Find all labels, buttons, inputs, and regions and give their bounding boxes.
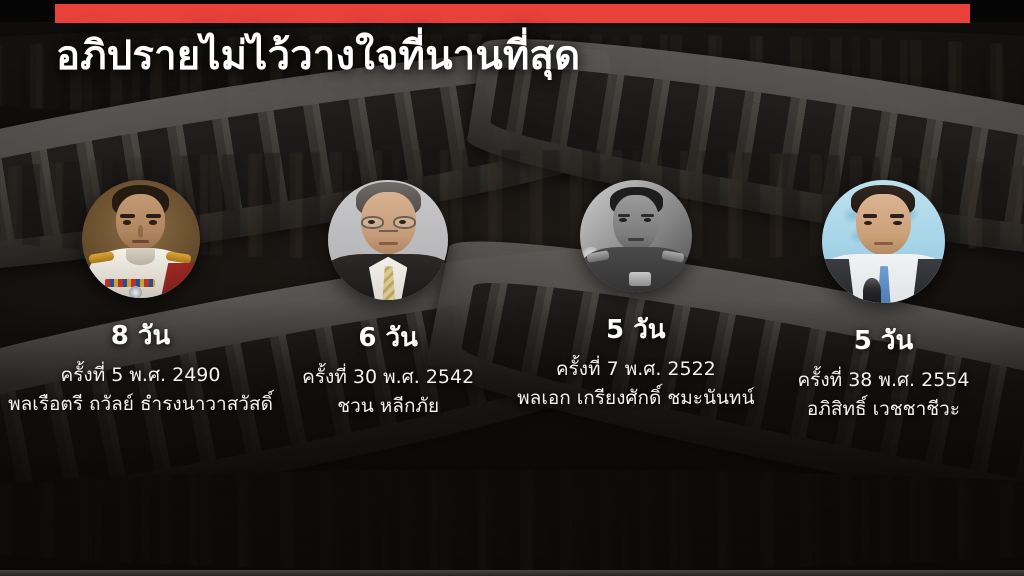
- eye-left: [619, 218, 627, 222]
- portrait-man-with-microphone: [822, 180, 945, 303]
- red-accent-bar: [55, 4, 970, 23]
- entries-row: 8 วัน ครั้งที่ 5 พ.ศ. 2490 พลเรือตรี ถวั…: [0, 180, 1024, 422]
- medal-star: [129, 286, 142, 298]
- uniform-badge: [629, 272, 651, 287]
- mouth-shape: [379, 242, 398, 245]
- eyebrow-left: [863, 214, 878, 218]
- entry-card-4: 5 วัน ครั้งที่ 38 พ.ศ. 2554 อภิสิทธิ์ เว…: [761, 180, 1006, 422]
- eye-right: [149, 220, 157, 225]
- entry-days: 8 วัน: [111, 322, 171, 351]
- entry-person-name: พลเอก เกรียงศักดิ์ ชมะนันทน์: [517, 386, 754, 411]
- eye-right: [399, 220, 406, 224]
- entry-card-1: 8 วัน ครั้งที่ 5 พ.ศ. 2490 พลเรือตรี ถวั…: [18, 180, 263, 422]
- jacket-right: [912, 259, 945, 303]
- entry-person-name: พลเรือตรี ถวัลย์ ธำรงนาวาสวัสดิ์: [8, 392, 273, 417]
- mouth-shape: [132, 240, 149, 243]
- eye-right: [893, 221, 902, 225]
- eye-left: [123, 220, 131, 225]
- portrait-elderly-man-glasses: [328, 180, 448, 300]
- infographic-stage: อภิปรายไม่ไว้วางใจที่นานที่สุด 8: [0, 0, 1024, 576]
- entry-card-2: 6 วัน ครั้งที่ 30 พ.ศ. 2542 ชวน หลีกภัย: [266, 180, 511, 422]
- bottom-light-band: [0, 570, 1024, 576]
- eyebrow-left: [120, 214, 134, 218]
- eye-left: [368, 220, 375, 224]
- portrait-painted-naval-officer: [82, 180, 200, 298]
- medal-ribbons: [105, 279, 155, 287]
- eyebrow-right: [146, 214, 160, 218]
- eye-left: [864, 221, 873, 225]
- entry-occasion: ครั้งที่ 7 พ.ศ. 2522: [556, 357, 716, 382]
- glasses-bridge: [379, 230, 398, 232]
- uniform-collar: [126, 248, 154, 265]
- entry-card-3: 5 วัน ครั้งที่ 7 พ.ศ. 2522 พลเอก เกรียงศ…: [513, 180, 758, 422]
- entry-days: 5 วัน: [606, 316, 666, 345]
- eyebrow-left: [618, 214, 630, 217]
- entry-person-name: อภิสิทธิ์ เวชชาชีวะ: [807, 397, 960, 422]
- eyebrow-right: [890, 214, 905, 218]
- entry-occasion: ครั้งที่ 5 พ.ศ. 2490: [61, 363, 221, 388]
- mouth-shape: [874, 242, 894, 245]
- entry-days: 6 วัน: [358, 324, 418, 353]
- entry-person-name: ชวน หลีกภัย: [337, 394, 439, 419]
- entry-days: 5 วัน: [854, 327, 914, 356]
- entry-occasion: ครั้งที่ 38 พ.ศ. 2554: [797, 368, 969, 393]
- face-shape: [613, 195, 659, 251]
- mouth-shape: [628, 238, 644, 241]
- portrait-military-officer-bw: [580, 180, 692, 292]
- nose-shape: [138, 225, 144, 238]
- eyebrow-right: [641, 214, 653, 217]
- entry-occasion: ครั้งที่ 30 พ.ศ. 2542: [302, 365, 474, 390]
- page-title: อภิปรายไม่ไว้วางใจที่นานที่สุด: [56, 34, 580, 79]
- microphone-icon: [863, 278, 881, 303]
